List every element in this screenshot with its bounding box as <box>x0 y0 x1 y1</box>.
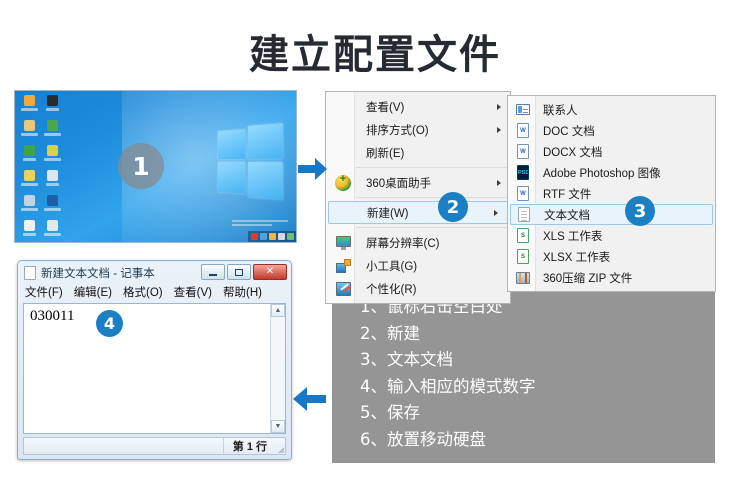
step-badge-2: 2 <box>438 192 468 222</box>
slide-canvas: 建立配置文件 <box>0 0 750 490</box>
personalize-icon <box>332 280 354 298</box>
notepad-text-area-container[interactable]: 030011 ▲ ▼ <box>23 303 286 434</box>
chevron-right-icon <box>497 104 501 110</box>
notepad-menubar[interactable]: 文件(F) 编辑(E) 格式(O) 查看(V) 帮助(H) <box>20 283 289 301</box>
desktop-icon <box>41 144 64 169</box>
notepad-title: 新建文本文档 - 记事本 <box>36 265 155 281</box>
instruction-step: 5、保存 <box>360 400 536 427</box>
notepad-file-icon <box>24 266 36 280</box>
instruction-step-list: 1、鼠标右击空白处 2、新建 3、文本文档 4、输入相应的模式数字 5、保存 6… <box>360 294 536 453</box>
notepad-titlebar[interactable]: 新建文本文档 - 记事本 ✕ <box>20 263 289 283</box>
desktop-icon <box>41 94 64 119</box>
submenu-label: Adobe Photoshop 图像 <box>533 165 661 181</box>
submenu-item-text-document[interactable]: 文本文档 <box>510 204 713 225</box>
context-menu-separator <box>356 167 508 168</box>
blank-icon <box>332 121 354 139</box>
desktop-icon <box>41 119 64 144</box>
step-badge-3: 3 <box>625 196 655 226</box>
submenu-item-docx[interactable]: W DOCX 文档 <box>508 141 715 162</box>
maximize-button[interactable] <box>227 264 251 280</box>
submenu-item-xls[interactable]: S XLS 工作表 <box>508 225 715 246</box>
360-icon <box>332 174 354 192</box>
word-docx-glyph: W <box>517 144 529 159</box>
submenu-label: DOCX 文档 <box>533 144 602 160</box>
context-menu-label: 个性化(R) <box>354 281 416 297</box>
word-doc-glyph: W <box>517 123 529 138</box>
arrow-left-icon <box>292 386 326 412</box>
submenu-item-photoshop[interactable]: PSD Adobe Photoshop 图像 <box>508 162 715 183</box>
context-menu-label: 刷新(E) <box>354 145 404 161</box>
close-button[interactable]: ✕ <box>253 264 287 280</box>
submenu-item-zip[interactable]: 360压缩 ZIP 文件 <box>508 267 715 288</box>
desktop-icon <box>41 169 64 194</box>
excel-xls-glyph: S <box>517 228 529 243</box>
desktop-icon <box>41 194 64 219</box>
desktop-icon-grid <box>18 94 64 243</box>
submenu-label: RTF 文件 <box>533 186 591 202</box>
notepad-window[interactable]: 新建文本文档 - 记事本 ✕ 文件(F) 编辑(E) 格式(O) 查看(V) 帮… <box>17 260 292 460</box>
word-docx-icon: W <box>513 143 533 160</box>
context-menu-separator <box>356 227 508 228</box>
context-menu-label: 360桌面助手 <box>354 175 431 191</box>
menu-format[interactable]: 格式(O) <box>123 284 163 300</box>
context-menu-item-personalize[interactable]: 个性化(R) <box>326 277 510 300</box>
excel-xlsx-icon: S <box>513 248 533 265</box>
vertical-scrollbar[interactable]: ▲ ▼ <box>270 304 285 433</box>
photoshop-icon: PSD <box>513 164 533 181</box>
contact-card-icon <box>513 101 533 118</box>
blank-icon <box>332 98 354 116</box>
minimize-button[interactable] <box>201 264 225 280</box>
notepad-text-content[interactable]: 030011 <box>24 304 270 433</box>
context-menu-label: 查看(V) <box>354 99 404 115</box>
scroll-down-arrow-icon[interactable]: ▼ <box>271 420 285 433</box>
windows-logo-icon <box>218 126 285 199</box>
instruction-step: 3、文本文档 <box>360 347 536 374</box>
context-menu-label: 排序方式(O) <box>354 122 429 138</box>
submenu-label: 360压缩 ZIP 文件 <box>533 270 632 286</box>
chevron-right-icon <box>497 127 501 133</box>
photoshop-glyph: PSD <box>517 165 529 180</box>
submenu-item-xlsx[interactable]: S XLSX 工作表 <box>508 246 715 267</box>
context-menu-item-new[interactable]: 新建(W) <box>328 201 508 224</box>
submenu-item-contact[interactable]: 联系人 <box>508 99 715 120</box>
submenu-item-doc[interactable]: W DOC 文档 <box>508 120 715 141</box>
submenu-item-rtf[interactable]: W RTF 文件 <box>508 183 715 204</box>
notepad-statusbar: 第 1 行 <box>23 437 286 455</box>
menu-file[interactable]: 文件(F) <box>25 284 63 300</box>
context-menu-label: 屏幕分辨率(C) <box>354 235 439 251</box>
new-item-submenu[interactable]: 联系人 W DOC 文档 W DOCX 文档 PSD Adobe Photosh… <box>507 95 716 292</box>
desktop-icon <box>18 219 41 243</box>
page-title: 建立配置文件 <box>0 22 750 80</box>
blank-icon <box>332 144 354 162</box>
submenu-label: DOC 文档 <box>533 123 595 139</box>
context-menu-item-sortby[interactable]: 排序方式(O) <box>326 118 510 141</box>
word-doc-icon: W <box>513 122 533 139</box>
desktop-icon <box>41 219 64 243</box>
monitor-icon <box>332 234 354 252</box>
step-badge-4: 4 <box>96 310 123 337</box>
desktop-icon <box>18 119 41 144</box>
gadget-icon <box>332 257 354 275</box>
submenu-label: 文本文档 <box>534 207 590 223</box>
instruction-step: 6、放置移动硬盘 <box>360 427 536 454</box>
desktop-icon <box>18 94 41 119</box>
context-menu-separator <box>356 197 508 198</box>
desktop-icon <box>18 144 41 169</box>
submenu-label: XLSX 工作表 <box>533 249 610 265</box>
instruction-panel: 1、鼠标右击空白处 2、新建 3、文本文档 4、输入相应的模式数字 5、保存 6… <box>332 290 715 463</box>
text-document-icon <box>514 206 534 223</box>
chevron-right-icon <box>497 180 501 186</box>
menu-view[interactable]: 查看(V) <box>174 284 212 300</box>
context-menu-label: 新建(W) <box>355 205 409 221</box>
submenu-label: 联系人 <box>533 102 578 118</box>
instruction-step: 2、新建 <box>360 321 536 348</box>
resize-grip-icon[interactable] <box>274 438 285 454</box>
excel-xlsx-glyph: S <box>517 249 529 264</box>
menu-edit[interactable]: 编辑(E) <box>74 284 112 300</box>
window-controls[interactable]: ✕ <box>201 264 287 280</box>
step-badge-1: 1 <box>118 143 164 189</box>
desktop-icon <box>18 169 41 194</box>
chevron-right-icon <box>494 210 498 216</box>
zip-archive-icon <box>513 269 533 286</box>
desktop-icon <box>18 194 41 219</box>
submenu-label: XLS 工作表 <box>533 228 602 244</box>
scroll-up-arrow-icon[interactable]: ▲ <box>271 304 285 317</box>
excel-xls-icon: S <box>513 227 533 244</box>
desktop-context-menu[interactable]: 查看(V) 排序方式(O) 刷新(E) 360桌面助手 新建(W) <box>325 91 511 304</box>
context-menu-item-360-desktop-assistant[interactable]: 360桌面助手 <box>326 171 510 194</box>
context-menu-item-screen-resolution[interactable]: 屏幕分辨率(C) <box>326 231 510 254</box>
desktop-taskbar <box>248 231 296 242</box>
context-menu-item-gadgets[interactable]: 小工具(G) <box>326 254 510 277</box>
rtf-doc-glyph: W <box>517 186 529 201</box>
blank-icon <box>333 204 355 222</box>
desktop-watermark <box>232 220 288 228</box>
instruction-step: 4、输入相应的模式数字 <box>360 374 536 401</box>
rtf-doc-icon: W <box>513 185 533 202</box>
line-indicator: 第 1 行 <box>223 438 274 454</box>
context-menu-item-view[interactable]: 查看(V) <box>326 95 510 118</box>
context-menu-label: 小工具(G) <box>354 258 417 274</box>
context-menu-item-refresh[interactable]: 刷新(E) <box>326 141 510 164</box>
menu-help[interactable]: 帮助(H) <box>223 284 262 300</box>
arrow-right-icon <box>298 157 328 181</box>
